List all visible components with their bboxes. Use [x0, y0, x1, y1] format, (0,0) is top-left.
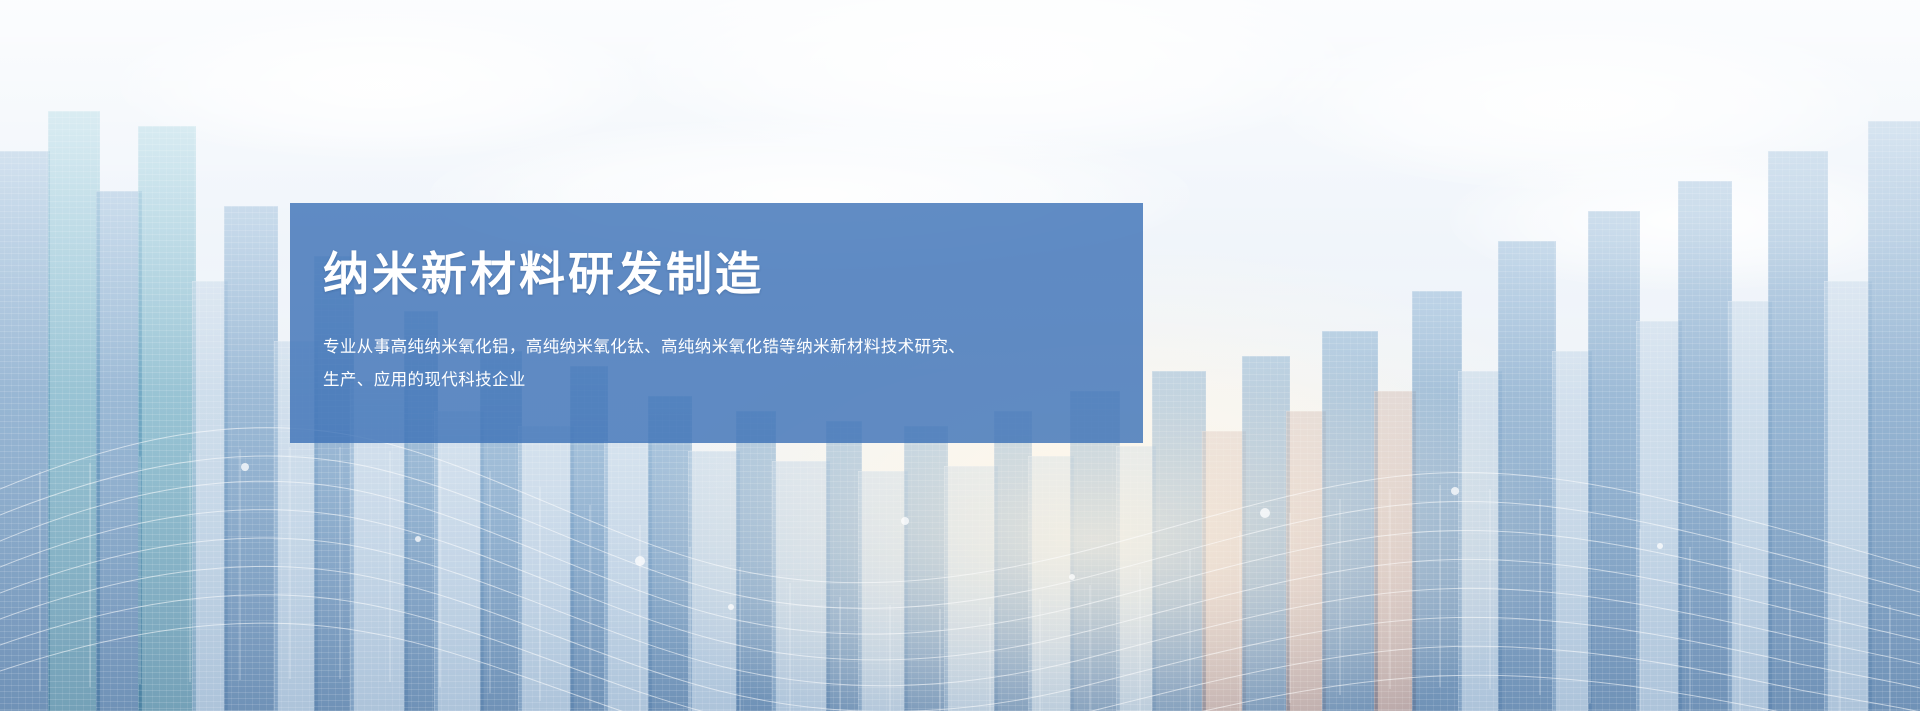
panel-description: 专业从事高纯纳米氧化铝，高纯纳米氧化钛、高纯纳米氧化锆等纳米新材料技术研究、 生… [323, 331, 1153, 397]
description-line-1: 专业从事高纯纳米氧化铝，高纯纳米氧化钛、高纯纳米氧化锆等纳米新材料技术研究、 [323, 331, 1153, 364]
description-line-2: 生产、应用的现代科技企业 [323, 364, 1153, 397]
content-panel: 纳米新材料研发制造 专业从事高纯纳米氧化铝，高纯纳米氧化钛、高纯纳米氧化锆等纳米… [290, 203, 1143, 443]
page-title: 纳米新材料研发制造 [323, 247, 1143, 301]
hero-banner: 纳米新材料研发制造 专业从事高纯纳米氧化铝，高纯纳米氧化钛、高纯纳米氧化锆等纳米… [0, 0, 1920, 711]
